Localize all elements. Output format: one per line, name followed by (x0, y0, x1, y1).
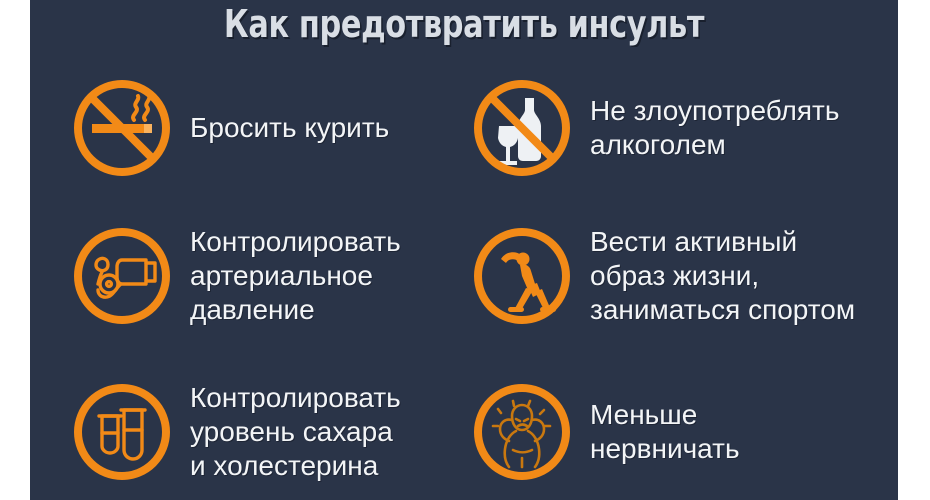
blood-pressure-monitor-icon (68, 222, 176, 330)
tip-control-blood-pressure: Контролировать артериальное давление (68, 206, 468, 346)
no-alcohol-icon (468, 74, 576, 182)
tip-line: нервничать (590, 432, 888, 466)
tip-line: уровень сахара (190, 415, 468, 449)
tip-label: Бросить курить (190, 111, 468, 145)
tip-line: Контролировать (190, 381, 468, 415)
tip-active-lifestyle: Вести активный образ жизни, заниматься с… (468, 206, 888, 346)
tip-line: заниматься спортом (590, 293, 888, 327)
tip-line: алкоголем (590, 128, 888, 162)
tip-limit-alcohol: Не злоупотреблять алкоголем (468, 58, 888, 198)
tip-line: Бросить курить (190, 111, 468, 145)
tip-label: Вести активный образ жизни, заниматься с… (590, 225, 888, 327)
tips-grid: Бросить курить Не злоупотреблять алкогол… (30, 58, 898, 500)
tip-label: Контролировать уровень сахара и холестер… (190, 381, 468, 483)
tip-line: давление (190, 293, 468, 327)
stressed-person-icon (468, 378, 576, 486)
tip-line: Меньше (590, 398, 888, 432)
tip-line: Не злоупотреблять (590, 94, 888, 128)
no-smoking-icon (68, 74, 176, 182)
tip-quit-smoking: Бросить курить (68, 58, 468, 198)
tip-reduce-stress: Меньше нервничать (468, 362, 888, 500)
tip-label: Не злоупотреблять алкоголем (590, 94, 888, 162)
tip-line: Вести активный (590, 225, 888, 259)
tip-label: Меньше нервничать (590, 398, 888, 466)
tip-line: артериальное (190, 259, 468, 293)
page-title: Как предотвратить инсульт (117, 2, 811, 46)
stretching-person-icon (468, 222, 576, 330)
tip-line: и холестерина (190, 449, 468, 483)
test-tubes-icon (68, 378, 176, 486)
tip-control-sugar-cholesterol: Контролировать уровень сахара и холестер… (68, 362, 468, 500)
tip-line: Контролировать (190, 225, 468, 259)
infographic-poster: Как предотвратить инсульт Бросить курить (30, 0, 898, 500)
tip-line: образ жизни, (590, 259, 888, 293)
tip-label: Контролировать артериальное давление (190, 225, 468, 327)
